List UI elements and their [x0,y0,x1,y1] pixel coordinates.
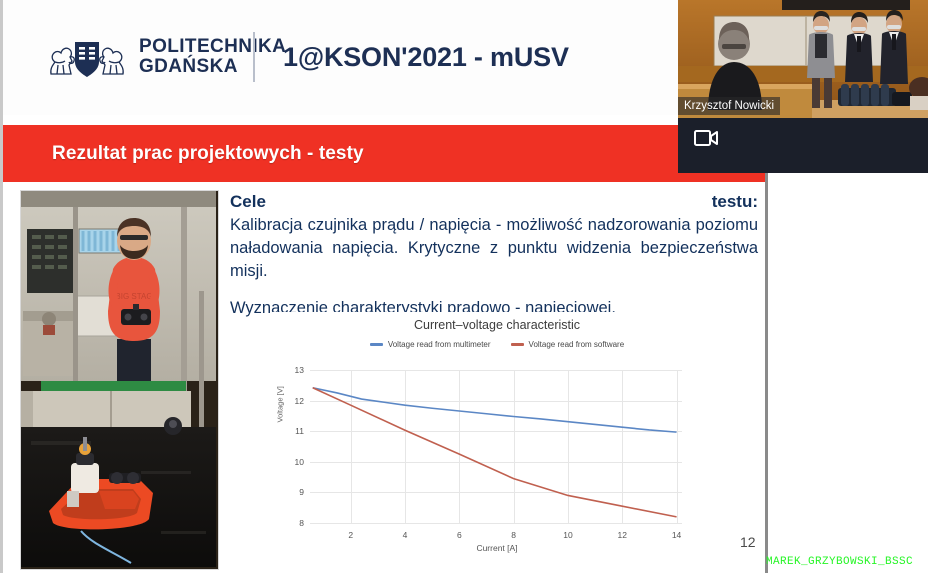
screen: POLITECHNIKA GDAŃSKA 1@KSON'2021 - mUSV … [0,0,928,573]
svg-text:BIG STAG: BIG STAG [115,292,152,301]
goal-heading: Cele testu: [230,192,758,212]
presentation-slide: POLITECHNIKA GDAŃSKA 1@KSON'2021 - mUSV … [0,0,768,573]
institution-name: POLITECHNIKA GDAŃSKA [139,37,286,77]
gdansk-tech-crest-icon [45,34,129,80]
goal-label-left: Cele [230,192,266,212]
chart-series-layer [310,370,682,523]
chart-x-tick: 12 [618,530,627,540]
institution-line-1: POLITECHNIKA [139,36,286,57]
chart-x-tick: 4 [403,530,408,540]
chart-y-tick: 10 [295,457,304,467]
recording-watermark: MAREK_GRZYBOWSKI_BSSC [766,556,913,568]
legend-label-software: Voltage read from software [529,340,625,349]
chart-y-tick: 13 [295,365,304,375]
goal-paragraph-1: Kalibracja czujnika prądu / napięcia - m… [230,214,758,283]
legend-item-software: Voltage read from software [511,340,625,349]
chart-plot-area: 89101112132468101214 [310,370,682,523]
institution-logo: POLITECHNIKA GDAŃSKA [45,34,286,80]
chart-legend: Voltage read from multimeter Voltage rea… [272,340,722,349]
chart-x-tick: 8 [511,530,516,540]
chart-x-tick: 14 [672,530,681,540]
legend-item-multimeter: Voltage read from multimeter [370,340,491,349]
chart-y-tick: 12 [295,396,304,406]
institution-line-2: GDAŃSKA [139,56,238,77]
chart-x-tick: 6 [457,530,462,540]
slide-header: POLITECHNIKA GDAŃSKA 1@KSON'2021 - mUSV [3,0,765,115]
chart-y-axis-label: Voltage [V] [276,411,285,423]
current-voltage-chart: Current–voltage characteristic Voltage r… [272,312,722,570]
chart-x-axis-label: Current [A] [272,543,722,553]
chart-series-line-0 [313,388,677,432]
participant-name-label: Krzysztof Nowicki [678,97,780,115]
chart-y-tick: 9 [299,487,304,497]
section-title: Rezultat prac projektowych - testy [52,143,364,165]
chart-y-tick: 8 [299,518,304,528]
video-camera-icon[interactable] [694,129,718,147]
chart-series-line-1 [313,388,677,517]
slide-page-number: 12 [740,534,756,550]
legend-label-multimeter: Voltage read from multimeter [388,340,491,349]
chart-x-tick: 2 [348,530,353,540]
chart-x-tick: 10 [563,530,572,540]
usv-test-photo: BIG STAG [20,190,219,570]
legend-swatch-multimeter [370,343,383,346]
legend-swatch-software [511,343,524,346]
header-divider [253,32,255,82]
chart-gridline-h [310,523,682,524]
right-background [768,173,928,573]
chart-y-tick: 11 [295,426,304,436]
chart-title: Current–voltage characteristic [272,318,722,332]
goal-label-right: testu: [712,192,758,212]
deck-title: 1@KSON'2021 - mUSV [283,42,569,73]
